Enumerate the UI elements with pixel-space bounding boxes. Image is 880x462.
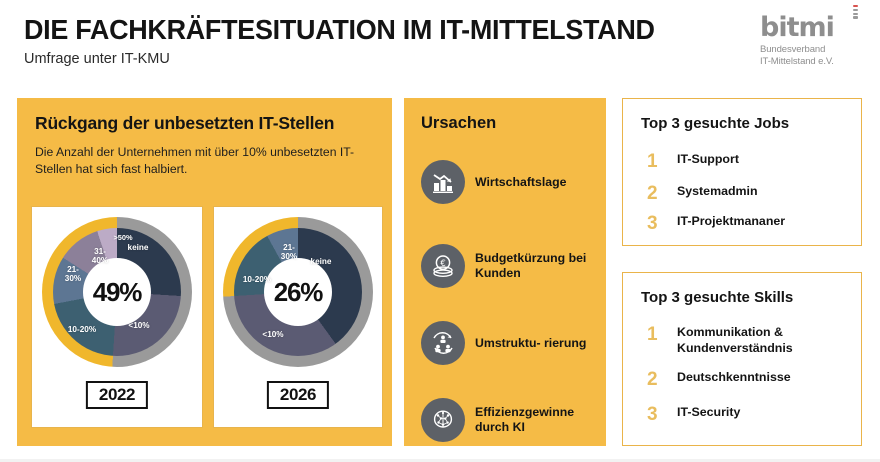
year-badge-2026: 2026 — [267, 381, 329, 409]
svg-text:€: € — [440, 258, 445, 268]
jobs-list-item-3: 3 IT-Projektmananer — [647, 214, 853, 235]
header: DIE FACHKRÄFTESITUATION IM IT-MITTELSTAN… — [24, 16, 856, 76]
cause-label-budgetkuerzung: Budgetkürzung bei Kunden — [475, 251, 599, 281]
jobs-rank-2: 2 — [647, 184, 677, 205]
cause-item-umstrukturierung: Umstruktu- rierung — [421, 321, 599, 365]
cause-item-budgetkuerzung: € Budgetkürzung bei Kunden — [421, 244, 599, 288]
ai-brain-icon — [421, 398, 465, 442]
logo-dots-icon — [853, 5, 858, 20]
donut-2026-center: 26% — [264, 258, 332, 326]
skills-label-2: Deutschkenntnisse — [677, 370, 791, 386]
jobs-label-1: IT-Support — [677, 152, 739, 168]
left-panel-title: Rückgang der unbesetzten IT-Stellen — [35, 113, 334, 134]
skills-panel-title: Top 3 gesuchte Skills — [641, 289, 793, 306]
skills-label-1: Kommunikation & Kundenverständnis — [677, 325, 793, 357]
euro-coins-icon: € — [421, 244, 465, 288]
jobs-rank-1: 1 — [647, 152, 677, 173]
skills-rank-2: 2 — [647, 370, 677, 391]
logo-subtitle-line2: IT-Mittelstand e.V. — [760, 56, 856, 68]
skills-label-3: IT-Security — [677, 405, 740, 421]
logo-subtitle: Bundesverband IT-Mittelstand e.V. — [760, 44, 856, 67]
skills-rank-1: 1 — [647, 325, 677, 346]
page-subtitle: Umfrage unter IT-KMU — [24, 52, 856, 67]
logo-wordmark: bitmi — [760, 14, 834, 41]
falling-bar-chart-icon — [421, 160, 465, 204]
middle-panel-title: Ursachen — [421, 114, 496, 133]
panel-rueckgang: Rückgang der unbesetzten IT-Stellen Die … — [17, 98, 392, 446]
donut-2022-graphic: 49% keine <10% 10-20% 21- 30% 31- 40% >5… — [42, 217, 192, 367]
donut-2026-center-value: 26% — [274, 277, 322, 308]
cause-label-umstrukturierung: Umstruktu- rierung — [475, 336, 586, 351]
jobs-list-item-2: 2 Systemadmin — [647, 184, 853, 205]
cause-item-wirtschaftslage: Wirtschaftslage — [421, 160, 599, 204]
jobs-rank-3: 3 — [647, 214, 677, 235]
panel-top3-jobs: Top 3 gesuchte Jobs 1 IT-Support 2 Syste… — [622, 98, 862, 246]
page-title: DIE FACHKRÄFTESITUATION IM IT-MITTELSTAN… — [24, 16, 839, 44]
jobs-label-2: Systemadmin — [677, 184, 758, 200]
year-badge-2022: 2022 — [86, 381, 148, 409]
skills-list-item-2: 2 Deutschkenntnisse — [647, 370, 853, 391]
donut-chart-2026: 26% keine <10% 10-20% 21- 30% 2026 — [213, 206, 383, 428]
panel-top3-skills: Top 3 gesuchte Skills 1 Kommunikation & … — [622, 272, 862, 446]
bitmi-logo: bitmi Bundesverband IT-Mittelstand e.V. — [760, 14, 856, 67]
cause-label-wirtschaftslage: Wirtschaftslage — [475, 175, 566, 190]
skills-list-item-1: 1 Kommunikation & Kundenverständnis — [647, 325, 853, 357]
cause-label-ki: Effizienzgewinne durch KI — [475, 405, 599, 435]
donut-2026-graphic: 26% keine <10% 10-20% 21- 30% — [223, 217, 373, 367]
jobs-panel-title: Top 3 gesuchte Jobs — [641, 115, 789, 132]
donut-2022-center-value: 49% — [93, 277, 141, 308]
jobs-list-item-1: 1 IT-Support — [647, 152, 853, 173]
donut-chart-2022: 49% keine <10% 10-20% 21- 30% 31- 40% >5… — [31, 206, 203, 428]
skills-list-item-3: 3 IT-Security — [647, 405, 853, 426]
restructuring-org-icon — [421, 321, 465, 365]
skills-rank-3: 3 — [647, 405, 677, 426]
logo-subtitle-line1: Bundesverband — [760, 44, 856, 56]
donut-2022-center: 49% — [83, 258, 151, 326]
left-panel-description: Die Anzahl der Unternehmen mit über 10% … — [35, 144, 365, 179]
jobs-label-3: IT-Projektmananer — [677, 214, 785, 230]
infographic-page: DIE FACHKRÄFTESITUATION IM IT-MITTELSTAN… — [0, 0, 880, 462]
cause-item-ki: Effizienzgewinne durch KI — [421, 398, 599, 442]
panel-ursachen: Ursachen Wirtschaftslage — [404, 98, 606, 446]
